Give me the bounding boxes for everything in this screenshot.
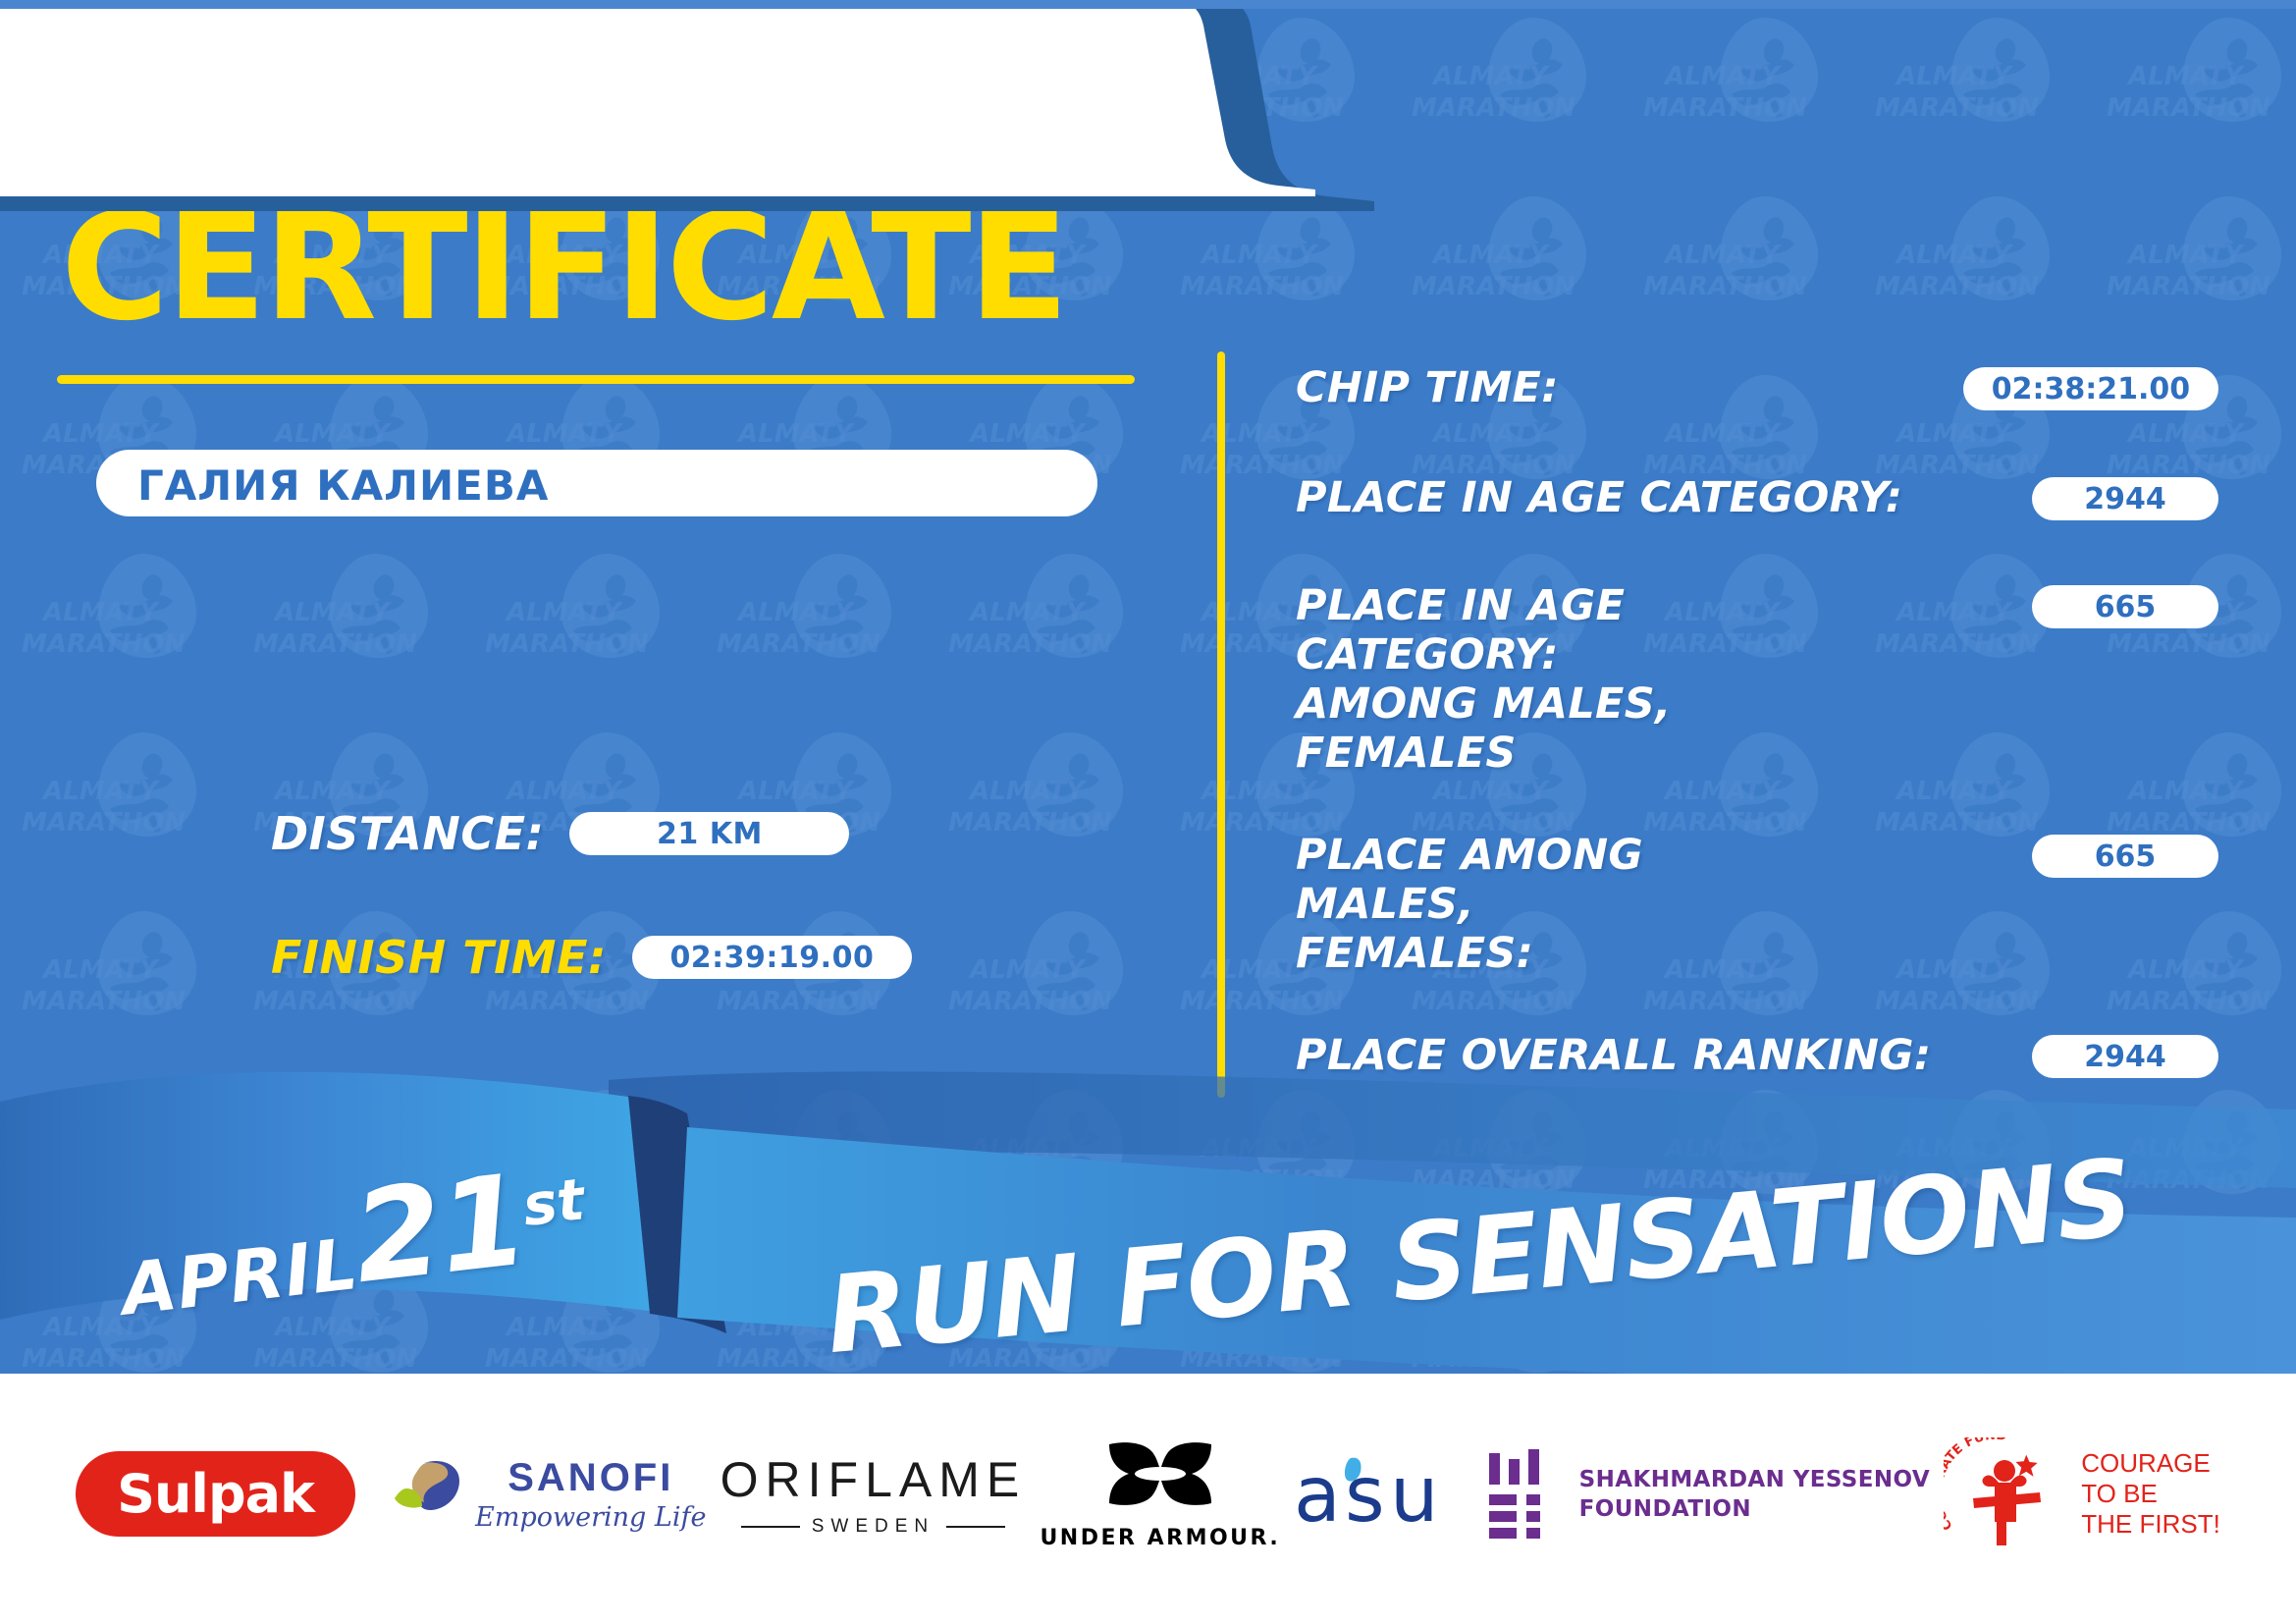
sanofi-wordmark: SANOFI <box>475 1456 706 1500</box>
courage-line1: COURAGE <box>2081 1448 2220 1479</box>
finish-time-value: 02:39:19.00 <box>669 941 874 975</box>
chip-time-value: 02:38:21.00 <box>1992 372 2190 406</box>
oriflame-rule-right <box>946 1526 1005 1528</box>
stat-row-place-among-gender: PLACE AMONG MALES,FEMALES: 665 <box>1296 831 2218 978</box>
courage-fund-icon: CORPORATE FUND <box>1944 1437 2067 1551</box>
sponsor-asu: a s u <box>1294 1450 1470 1539</box>
title-underline <box>57 375 1135 384</box>
sulpak-wordmark: Sulpak <box>76 1451 355 1537</box>
oriflame-subline: SWEDEN <box>721 1516 1027 1538</box>
sponsor-footer: Sulpak SANOFI Empowering Life ORIFLAME S… <box>0 1374 2296 1624</box>
stat-row-place-age-category: PLACE IN AGE CATEGORY: 2944 <box>1296 473 2218 522</box>
finish-time-value-pill: 02:39:19.00 <box>632 936 912 979</box>
place-age-category-gender-label: PLACE IN AGE CATEGORY:AMONG MALES, FEMAL… <box>1296 581 1885 778</box>
sanofi-mark-icon <box>369 1459 475 1530</box>
place-among-gender-value: 665 <box>2095 839 2157 874</box>
chip-time-value-pill: 02:38:21.00 <box>1963 367 2218 410</box>
yessenov-line2: FOUNDATION <box>1579 1494 1930 1524</box>
stats-panel: CHIP TIME: 02:38:21.00 PLACE IN AGE CATE… <box>1296 363 2218 1108</box>
yessenov-mark-icon <box>1485 1449 1558 1540</box>
distance-value: 21 KM <box>657 817 763 851</box>
top-accent-rule <box>0 0 2296 9</box>
stat-row-chip-time: CHIP TIME: 02:38:21.00 <box>1296 363 2218 412</box>
sponsor-sulpak: Sulpak <box>76 1451 355 1537</box>
under-armour-icon <box>1101 1438 1219 1515</box>
under-armour-wordmark: UNDER ARMOUR. <box>1040 1526 1280 1550</box>
asu-logo-icon: a s u <box>1294 1450 1470 1539</box>
sponsor-yessenov-foundation: SHAKHMARDAN YESSENOV FOUNDATION <box>1485 1449 1930 1540</box>
place-among-gender-label: PLACE AMONG MALES,FEMALES: <box>1296 831 1826 978</box>
vertical-divider <box>1217 352 1225 1098</box>
field-finish-time: FINISH TIME: 02:39:19.00 <box>271 931 912 984</box>
finish-time-label: FINISH TIME: <box>271 931 607 984</box>
place-among-gender-value-pill: 665 <box>2032 835 2218 878</box>
svg-text:a: a <box>1294 1451 1341 1539</box>
sanofi-tagline: Empowering Life <box>475 1502 706 1533</box>
distance-value-pill: 21 KM <box>569 812 849 855</box>
place-age-category-value: 2944 <box>2084 482 2166 516</box>
oriflame-rule-left <box>741 1526 800 1528</box>
page-title: CERTIFICATE <box>61 194 1066 342</box>
place-age-category-gender-value: 665 <box>2095 590 2157 624</box>
sponsor-under-armour: UNDER ARMOUR. <box>1040 1438 1280 1550</box>
event-day: 21 <box>347 1147 533 1312</box>
oriflame-tagline: SWEDEN <box>812 1516 934 1538</box>
stat-row-place-age-category-gender: PLACE IN AGE CATEGORY:AMONG MALES, FEMAL… <box>1296 581 2218 778</box>
place-age-category-gender-value-pill: 665 <box>2032 585 2218 628</box>
yessenov-line1: SHAKHMARDAN YESSENOV <box>1579 1465 1930 1494</box>
sponsor-oriflame: ORIFLAME SWEDEN <box>721 1451 1027 1538</box>
place-overall-value: 2944 <box>2084 1040 2166 1074</box>
oriflame-wordmark: ORIFLAME <box>721 1451 1027 1508</box>
courage-line2: TO BE <box>2081 1479 2220 1509</box>
place-age-category-label: PLACE IN AGE CATEGORY: <box>1296 473 1902 522</box>
distance-label: DISTANCE: <box>271 807 544 860</box>
certificate-canvas: ALMATY MARATHON ALMATYMARATHON <box>0 0 2296 1624</box>
event-day-suffix: st <box>519 1165 588 1239</box>
place-age-category-value-pill: 2944 <box>2032 477 2218 520</box>
participant-name: ГАЛИЯ КАЛИЕВА <box>137 461 549 510</box>
sponsor-courage-fund: CORPORATE FUND COURAGE TO BE THE FIRST! <box>1944 1437 2220 1551</box>
svg-text:u: u <box>1390 1451 1438 1539</box>
header-white-panel <box>0 0 1315 196</box>
field-distance: DISTANCE: 21 KM <box>271 807 849 860</box>
chip-time-label: CHIP TIME: <box>1296 363 1559 412</box>
event-month: APRIL <box>118 1222 363 1331</box>
sponsor-sanofi: SANOFI Empowering Life <box>369 1456 706 1533</box>
courage-line3: THE FIRST! <box>2081 1509 2220 1540</box>
